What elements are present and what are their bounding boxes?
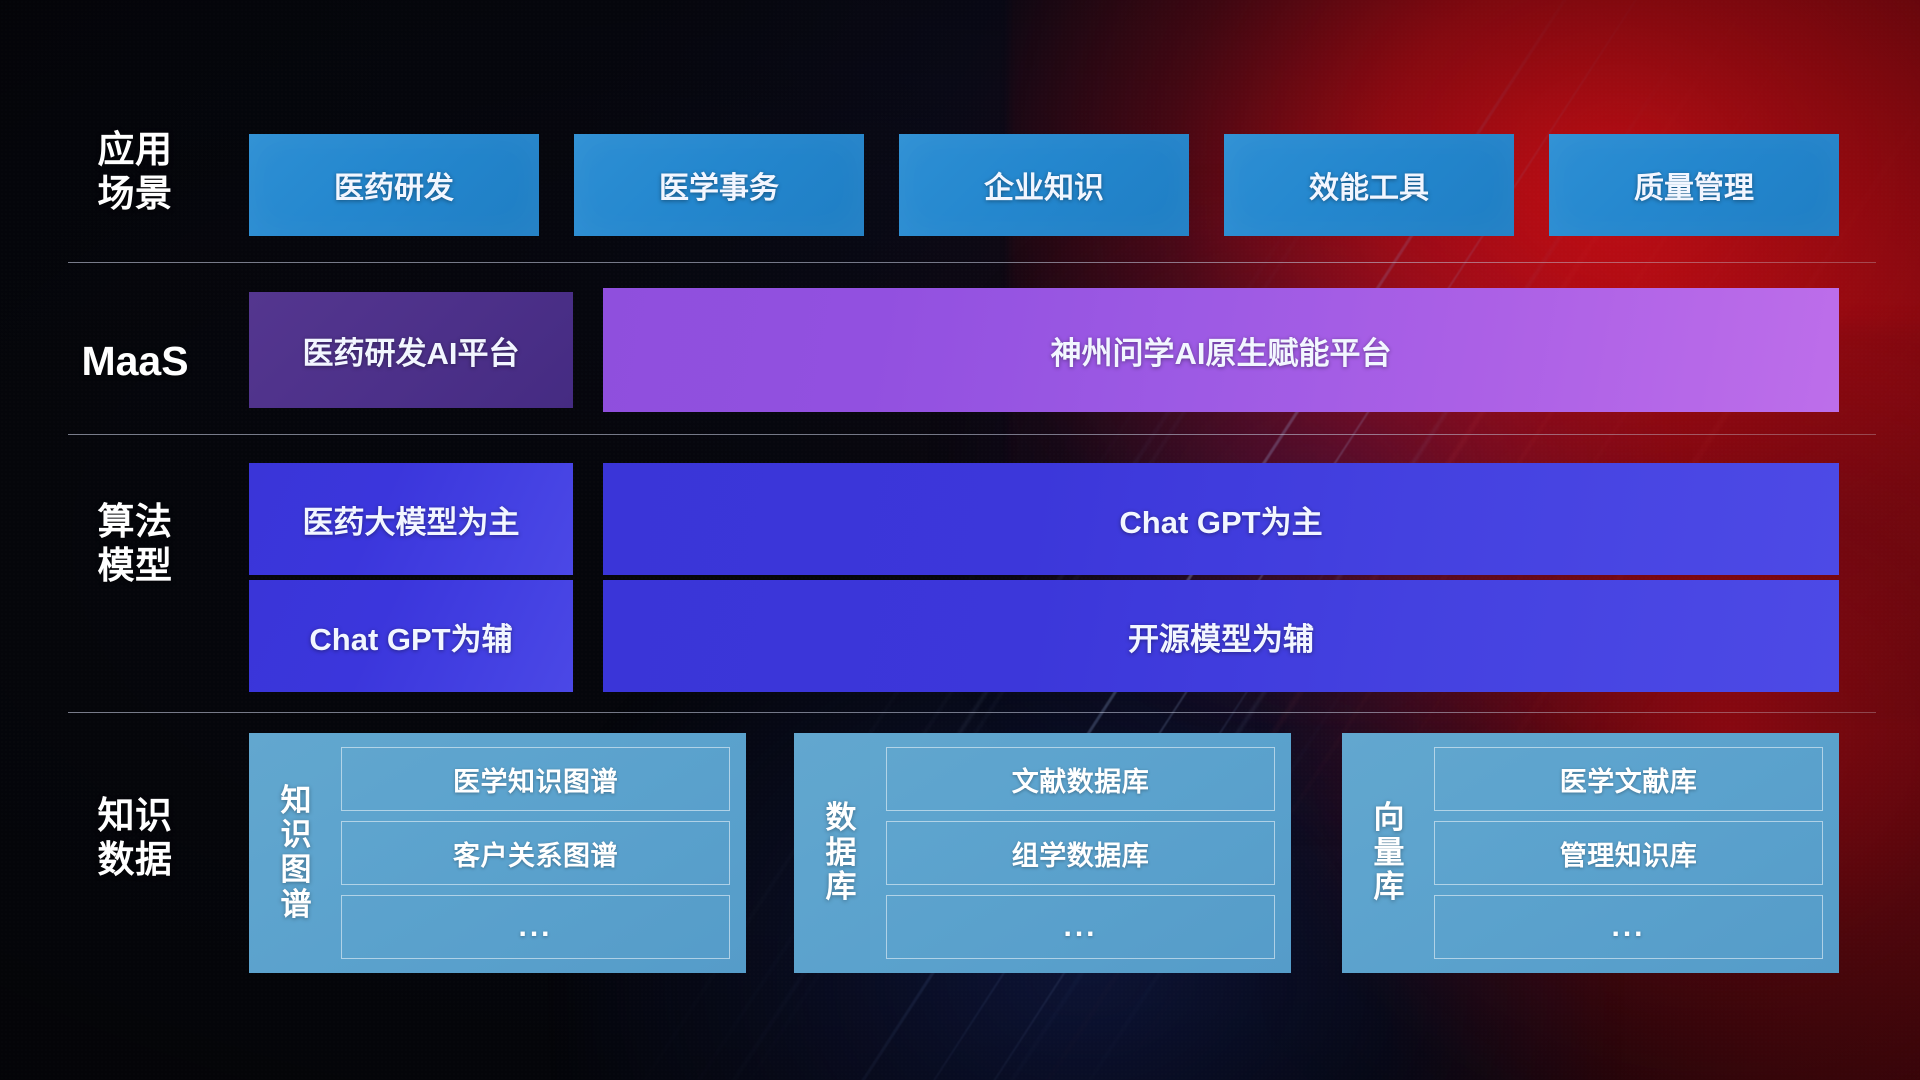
vec-label-char-1: 向 (1374, 801, 1405, 836)
maas-box-pharma-platform[interactable]: 医药研发AI平台 (249, 292, 573, 408)
tier-label-knowledge-line2: 数据 (60, 838, 210, 882)
divider-algorithm-knowledge (68, 712, 1876, 713)
knowledge-group-graph[interactable]: 知 识 图 谱 医学知识图谱 客户关系图谱 ... (249, 733, 746, 973)
knowledge-item-vector-more[interactable]: ... (1434, 895, 1823, 959)
knowledge-group-graph-items: 医学知识图谱 客户关系图谱 ... (329, 747, 730, 959)
kg-label-char-4: 谱 (281, 888, 312, 923)
tier-label-algorithm-line1: 算法 (60, 500, 210, 544)
architecture-diagram: 应用 场景 医药研发 医学事务 企业知识 效能工具 质量管理 MaaS 医药研发… (0, 0, 1920, 1080)
app-box-1[interactable]: 医药研发 (249, 134, 539, 236)
tier-label-application: 应用 场景 (60, 128, 210, 215)
knowledge-group-vector-items: 医学文献库 管理知识库 ... (1422, 747, 1823, 959)
tier-label-algorithm-line2: 模型 (60, 544, 210, 588)
knowledge-group-database[interactable]: 数 据 库 文献数据库 组学数据库 ... (794, 733, 1291, 973)
knowledge-item-customer-graph[interactable]: 客户关系图谱 (341, 821, 730, 885)
divider-application-maas (68, 262, 1876, 263)
knowledge-item-graph-more[interactable]: ... (341, 895, 730, 959)
app-box-3[interactable]: 企业知识 (899, 134, 1189, 236)
tier-label-application-line2: 场景 (60, 172, 210, 216)
tier-label-maas: MaaS (60, 337, 210, 385)
knowledge-item-medical-graph[interactable]: 医学知识图谱 (341, 747, 730, 811)
algo-box-pharma-primary[interactable]: 医药大模型为主 (249, 463, 573, 575)
knowledge-item-omics-db[interactable]: 组学数据库 (886, 821, 1275, 885)
knowledge-item-medical-literature[interactable]: 医学文献库 (1434, 747, 1823, 811)
divider-maas-algorithm (68, 434, 1876, 435)
knowledge-group-graph-label: 知 识 图 谱 (263, 747, 329, 959)
kg-label-char-2: 识 (281, 818, 312, 853)
knowledge-group-database-items: 文献数据库 组学数据库 ... (874, 747, 1275, 959)
app-box-4[interactable]: 效能工具 (1224, 134, 1514, 236)
db-label-char-3: 库 (826, 870, 857, 905)
tier-label-algorithm: 算法 模型 (60, 500, 210, 587)
knowledge-group-vector[interactable]: 向 量 库 医学文献库 管理知识库 ... (1342, 733, 1839, 973)
algo-box-chatgpt-primary[interactable]: Chat GPT为主 (603, 463, 1839, 575)
vec-label-char-3: 库 (1374, 870, 1405, 905)
knowledge-group-database-label: 数 据 库 (808, 747, 874, 959)
app-box-2[interactable]: 医学事务 (574, 134, 864, 236)
knowledge-item-database-more[interactable]: ... (886, 895, 1275, 959)
app-box-5[interactable]: 质量管理 (1549, 134, 1839, 236)
kg-label-char-3: 图 (281, 853, 312, 888)
tier-label-knowledge-line1: 知识 (60, 794, 210, 838)
knowledge-item-management-kb[interactable]: 管理知识库 (1434, 821, 1823, 885)
algo-box-opensource-secondary[interactable]: 开源模型为辅 (603, 580, 1839, 692)
db-label-char-1: 数 (826, 801, 857, 836)
knowledge-item-literature-db[interactable]: 文献数据库 (886, 747, 1275, 811)
knowledge-group-vector-label: 向 量 库 (1356, 747, 1422, 959)
tier-label-application-line1: 应用 (60, 128, 210, 172)
vec-label-char-2: 量 (1374, 836, 1405, 871)
kg-label-char-1: 知 (281, 784, 312, 819)
algo-box-chatgpt-secondary[interactable]: Chat GPT为辅 (249, 580, 573, 692)
tier-label-knowledge: 知识 数据 (60, 794, 210, 881)
db-label-char-2: 据 (826, 836, 857, 871)
maas-box-main-platform[interactable]: 神州问学AI原生赋能平台 (603, 288, 1839, 412)
